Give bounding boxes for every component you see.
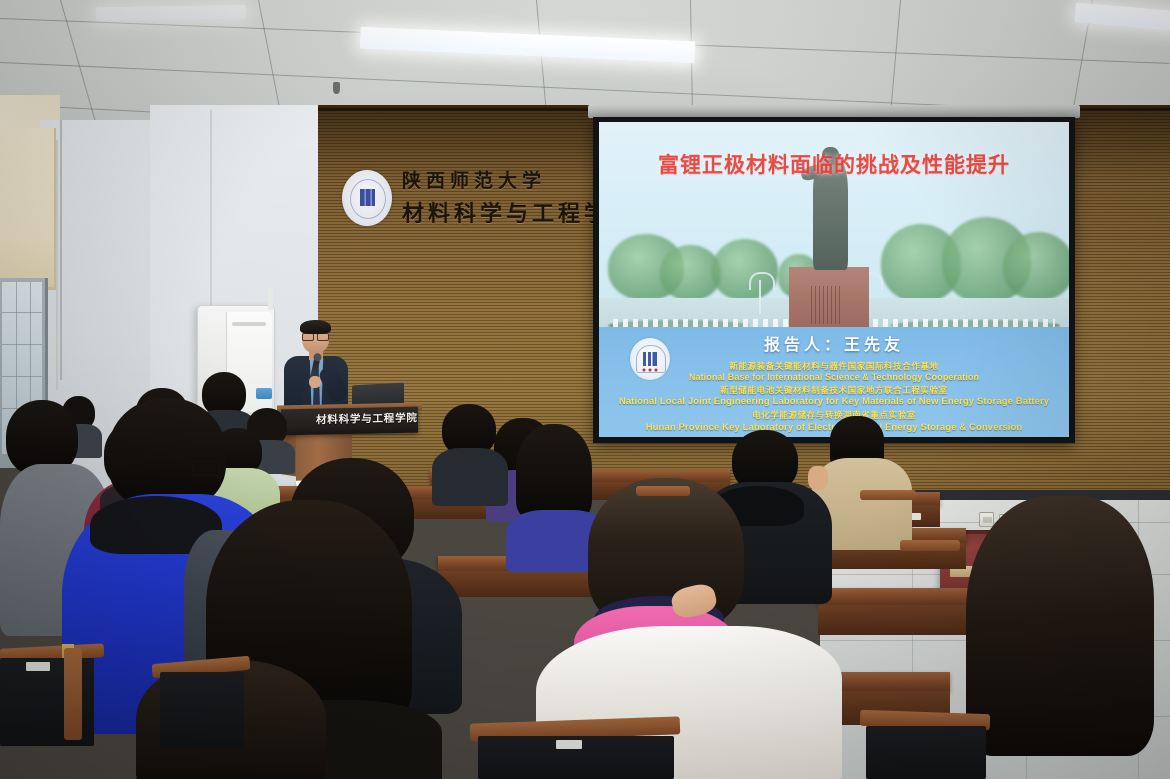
ceiling-light-panel: [96, 5, 246, 22]
lecture-desk: [818, 588, 978, 606]
speaker-hand: [309, 376, 321, 388]
slide-affiliation-line: National Local Joint Engineering Laborat…: [599, 396, 1069, 407]
blind-pull-cord[interactable]: [56, 140, 58, 390]
slide-affiliation-line: National Base for International Science …: [599, 372, 1069, 382]
projection-screen: 富锂正极材料面临的挑战及性能提升 报告人：王先友 新能源装备关键能材料与器件国家…: [593, 117, 1075, 443]
chair-back-rail[interactable]: [900, 540, 960, 551]
slide-affiliation-line: 新能源装备关键能材料与器件国家国际科技合作基地: [599, 360, 1069, 372]
university-emblem-icon: [342, 170, 392, 226]
air-conditioner-vent: [232, 322, 266, 326]
chair-back-rail[interactable]: [636, 486, 690, 496]
sprinkler-head: [333, 82, 340, 94]
chair-back-rail[interactable]: [64, 648, 82, 740]
air-conditioner-pipe: [268, 288, 273, 310]
chair-seatback[interactable]: [866, 726, 986, 779]
eyeglasses-icon: [192, 460, 220, 476]
wall-seam: [60, 120, 62, 380]
slide-photo-pedestal-inscription: [811, 286, 844, 324]
podium-label: 材料科学与工程学院: [316, 410, 436, 428]
audience-member: [432, 404, 508, 500]
chair-label: [556, 740, 582, 749]
slide-title: 富锂正极材料面临的挑战及性能提升: [599, 149, 1069, 179]
slide-affiliation-line: 新型储能电池关键材料制备技术国家地方联合工程实验室: [599, 384, 1069, 396]
roller-window-blind[interactable]: [0, 128, 56, 290]
speaker-hair: [300, 320, 331, 334]
lecture-hall-photo: 陕西师范大学 材料科学与工程学院: [0, 0, 1170, 779]
slide-photo-lamp: [759, 280, 761, 315]
chair-label: [26, 662, 50, 671]
chair-back-rail[interactable]: [860, 490, 916, 500]
eyeglasses-icon: [302, 333, 329, 339]
slide-presenter: 报告人：王先友: [599, 331, 1069, 355]
audience-member: [966, 496, 1170, 779]
presentation-slide: 富锂正极材料面临的挑战及性能提升 报告人：王先友 新能源装备关键能材料与器件国家…: [599, 122, 1069, 437]
torso: [432, 448, 508, 506]
emblem-book-icon: [360, 189, 375, 206]
hair: [966, 496, 1154, 756]
department-wall-sign: 陕西师范大学 材料科学与工程学院: [340, 158, 570, 242]
lecture-desk-front: [818, 605, 978, 635]
chair-seatback[interactable]: [160, 672, 244, 748]
university-name: 陕西师范大学: [402, 166, 546, 193]
